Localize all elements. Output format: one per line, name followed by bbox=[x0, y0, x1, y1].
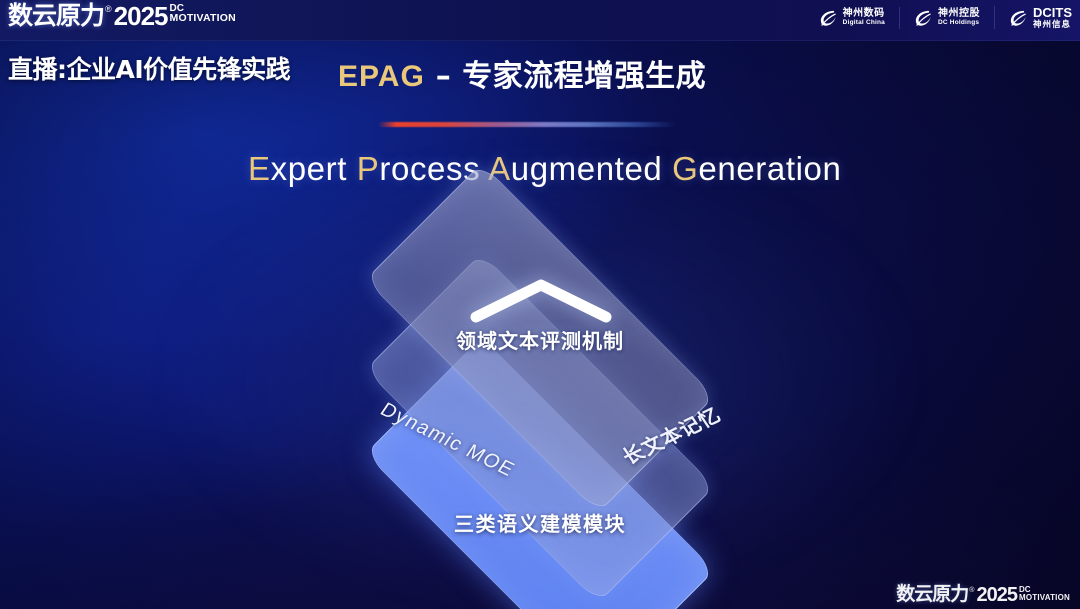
partner-name-en: Digital China bbox=[843, 20, 885, 27]
subtitle-word-expert: Expert bbox=[248, 150, 347, 187]
title-divider-line bbox=[378, 122, 676, 127]
page-title-dash: – bbox=[425, 59, 462, 94]
brand-motivation-text: MOTIVATION bbox=[170, 13, 236, 24]
watermark-brand-cn: 数云原力 bbox=[896, 585, 968, 604]
page-title-cn: 专家流程增强生成 bbox=[462, 59, 706, 94]
live-broadcast-label: 直播:企业AI价值先锋实践 bbox=[8, 50, 290, 86]
partner-logo-group: 神州数码 Digital China 神州控股 DC Holdings bbox=[817, 6, 1072, 29]
partner-label-dc-holdings: 神州控股 DC Holdings bbox=[938, 9, 980, 27]
partner-logo-dc-holdings: 神州控股 DC Holdings bbox=[899, 7, 980, 29]
subtitle-word-augmented: Augmented bbox=[488, 150, 662, 187]
swoosh-icon bbox=[912, 7, 934, 29]
subtitle-initial: P bbox=[357, 150, 380, 187]
partner-name-en: DCITS bbox=[1033, 6, 1072, 19]
subtitle-word-rest: ugmented bbox=[511, 150, 663, 187]
partner-label-digital-china: 神州数码 Digital China bbox=[843, 9, 885, 27]
page-title: EPAG – 专家流程增强生成 bbox=[338, 51, 706, 95]
chevron-up-icon bbox=[466, 273, 616, 327]
watermark-year: 2025 bbox=[976, 585, 1017, 605]
brand-logo: 数云原力 ® 2025 DC MOTIVATION bbox=[8, 3, 236, 29]
watermark-motivation-text: MOTIVATION bbox=[1019, 593, 1070, 602]
partner-logo-digital-china: 神州数码 Digital China bbox=[817, 7, 885, 29]
subtitle-initial: E bbox=[248, 150, 271, 187]
page-title-acronym: EPAG bbox=[338, 60, 425, 93]
partner-label-dcits: DCITS 神州信息 bbox=[1033, 6, 1072, 29]
brand-tagline: DC MOTIVATION bbox=[170, 3, 236, 24]
partner-name-cn: 神州数码 bbox=[843, 9, 885, 19]
partner-logo-dcits: DCITS 神州信息 bbox=[994, 6, 1072, 29]
subtitle-initial: G bbox=[672, 150, 698, 187]
brand-registered-mark: ® bbox=[105, 5, 112, 14]
watermark-registered-mark: ® bbox=[969, 587, 974, 594]
top-banner: 数云原力 ® 2025 DC MOTIVATION 神州数码 Digital C… bbox=[0, 0, 1080, 41]
watermark-tagline: DC MOTIVATION bbox=[1019, 585, 1070, 602]
swoosh-icon bbox=[817, 7, 839, 29]
page-subtitle: Expert Process Augmented Generation bbox=[248, 150, 841, 188]
brand-watermark: 数云原力 ® 2025 DC MOTIVATION bbox=[896, 585, 1070, 605]
subtitle-word-rest: eneration bbox=[698, 150, 841, 187]
partner-name-cn: 神州信息 bbox=[1033, 21, 1072, 30]
partner-name-cn: 神州控股 bbox=[938, 9, 980, 19]
subtitle-word-rest: xpert bbox=[271, 150, 347, 187]
diagram-layer-top-label: 领域文本评测机制 bbox=[456, 325, 624, 354]
subtitle-word-generation: Generation bbox=[672, 150, 841, 187]
watermark-dc-text: DC bbox=[1019, 586, 1070, 593]
layered-architecture-diagram: 领域文本评测机制 Dynamic MOE 长文本记忆 三类语义建模模块 bbox=[278, 215, 802, 575]
brand-name-cn: 数云原力 bbox=[8, 3, 104, 28]
partner-name-en: DC Holdings bbox=[938, 20, 980, 27]
swoosh-icon bbox=[1007, 7, 1029, 29]
brand-year: 2025 bbox=[114, 3, 168, 29]
diagram-layer-bottom-label: 三类语义建模模块 bbox=[454, 508, 626, 537]
slide-canvas: 数云原力 ® 2025 DC MOTIVATION 神州数码 Digital C… bbox=[0, 0, 1080, 609]
